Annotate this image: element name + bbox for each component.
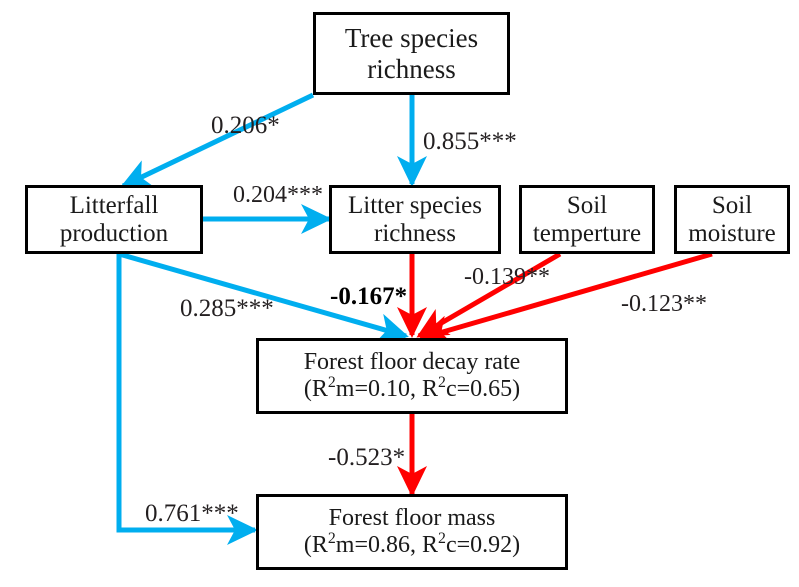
path-tree-to-litterfall bbox=[123, 95, 313, 186]
node-label-line1: Soil bbox=[567, 192, 607, 220]
coef-litterfall-to-decay: 0.285*** bbox=[180, 295, 274, 323]
node-label-line2: production bbox=[60, 220, 168, 248]
node-forest-floor-mass[interactable]: Forest floor mass (R2m=0.86, R2c=0.92) bbox=[256, 494, 568, 570]
coef-soil-temperature-to-decay: -0.139** bbox=[464, 264, 550, 291]
node-label-line2: temperture bbox=[533, 220, 641, 248]
sem-diagram: Tree species richness Litterfall product… bbox=[0, 0, 799, 587]
node-label-line2: richness bbox=[367, 54, 455, 84]
node-label-line2: moisture bbox=[688, 220, 776, 248]
coef-litterfall-corr-litter-richness: 0.204*** bbox=[233, 182, 323, 209]
node-label-line2: richness bbox=[374, 220, 456, 248]
node-forest-floor-decay-rate[interactable]: Forest floor decay rate (R2m=0.10, R2c=0… bbox=[256, 338, 568, 414]
coef-tree-to-litter-richness: 0.855*** bbox=[423, 128, 517, 156]
coef-tree-to-litterfall: 0.206* bbox=[211, 112, 280, 140]
coef-soil-moisture-to-decay: -0.123** bbox=[621, 291, 707, 318]
coef-decay-to-mass: -0.523* bbox=[328, 444, 405, 472]
node-soil-moisture[interactable]: Soil moisture bbox=[674, 185, 790, 254]
node-label-line1: Litterfall bbox=[70, 192, 159, 220]
node-label-r-squared: (R2m=0.10, R2c=0.65) bbox=[304, 376, 520, 403]
node-label-r-squared: (R2m=0.86, R2c=0.92) bbox=[304, 532, 520, 559]
node-litterfall-production[interactable]: Litterfall production bbox=[25, 185, 203, 254]
coef-litter-richness-to-decay: -0.167* bbox=[330, 283, 407, 311]
node-label-line1: Tree species bbox=[345, 23, 478, 53]
node-label-line1: Forest floor mass bbox=[329, 505, 496, 532]
node-label-line1: Litter species bbox=[348, 192, 482, 220]
coef-litterfall-to-mass: 0.761*** bbox=[145, 500, 239, 528]
node-label-line1: Forest floor decay rate bbox=[304, 349, 521, 376]
node-soil-temperature[interactable]: Soil temperture bbox=[519, 185, 655, 254]
node-litter-species-richness[interactable]: Litter species richness bbox=[329, 185, 501, 254]
node-tree-species-richness[interactable]: Tree species richness bbox=[313, 12, 510, 95]
node-label-line1: Soil bbox=[712, 192, 752, 220]
